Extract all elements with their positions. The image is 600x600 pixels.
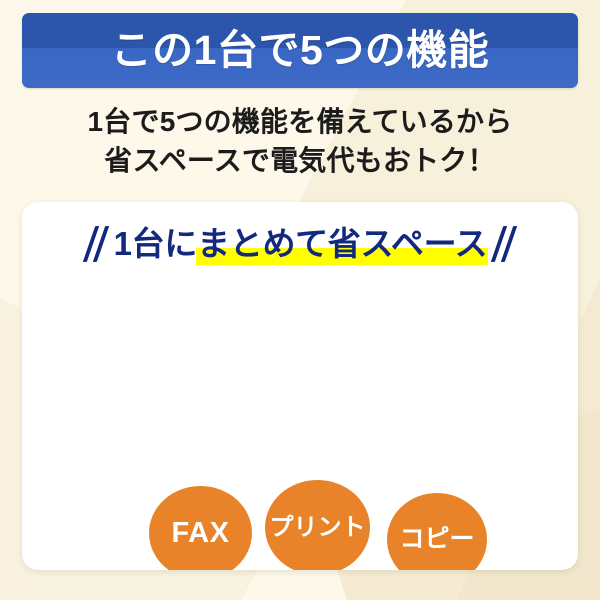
headline-prefix: 1台に xyxy=(114,225,197,262)
feature-bubble-copy: コピー xyxy=(387,493,487,570)
banner-title: この1台で5つの機能 xyxy=(111,30,490,71)
headline-highlight: まとめて省スペース xyxy=(197,227,487,260)
subtitle-line-2: 省スペースで電気代もおトク！ xyxy=(0,142,600,181)
slash-marks-left-icon xyxy=(86,224,106,262)
header-banner: この1台で5つの機能 xyxy=(22,13,578,88)
feature-bubble-print: プリント xyxy=(265,480,370,570)
feature-bubble-fax: FAX xyxy=(149,486,252,570)
headline-highlight-text: まとめて省スペース xyxy=(197,225,487,262)
feature-label-copy: コピー xyxy=(399,527,474,552)
slash-marks-right-icon xyxy=(494,224,514,262)
infographic-page: この1台で5つの機能 1台で5つの機能を備えているから 省スペースで電気代もおト… xyxy=(0,0,600,600)
feature-label-print: プリント xyxy=(270,516,366,540)
card-headline: 1台にまとめて省スペース xyxy=(22,219,578,267)
subtitle-line-1: 1台で5つの機能を備えているから xyxy=(0,103,600,142)
subtitle-block: 1台で5つの機能を備えているから 省スペースで電気代もおトク！ xyxy=(0,103,600,180)
feature-label-fax: FAX xyxy=(172,519,230,548)
headline-text: 1台にまとめて省スペース xyxy=(114,227,488,260)
feature-card: 1台にまとめて省スペース xyxy=(22,202,578,570)
